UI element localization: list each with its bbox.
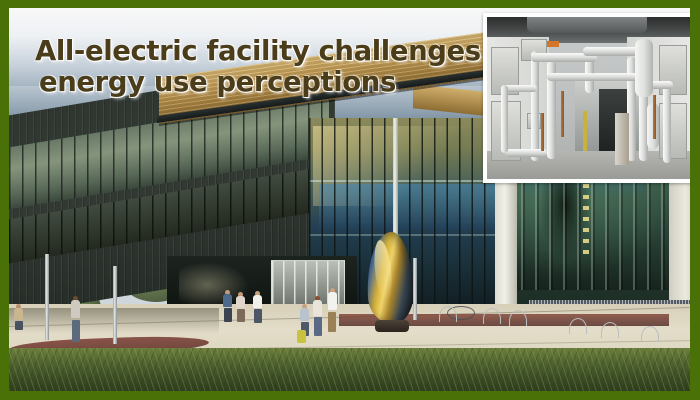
mech-ceiling-duct bbox=[527, 17, 647, 33]
bike-rack-1 bbox=[439, 306, 457, 322]
light-post-2 bbox=[113, 266, 117, 344]
mechanical-room-photo bbox=[487, 17, 690, 179]
inset-photo-frame bbox=[483, 13, 690, 183]
copper-pipe-3 bbox=[541, 113, 544, 151]
person-photographer bbox=[325, 288, 339, 332]
headline-line-2: energy use perceptions bbox=[35, 67, 505, 98]
person-torso bbox=[223, 294, 232, 307]
bike-rack-3 bbox=[509, 310, 527, 326]
person-torso bbox=[71, 300, 80, 318]
safety-marking bbox=[583, 111, 587, 151]
person-walking-left bbox=[69, 296, 82, 342]
planting-foliage-texture bbox=[9, 348, 690, 391]
bike-rack-2 bbox=[483, 308, 501, 324]
person-legs bbox=[224, 308, 232, 322]
buffer-tank bbox=[635, 39, 653, 97]
person-legs bbox=[314, 317, 322, 336]
person-torso bbox=[300, 308, 309, 321]
light-post-3 bbox=[413, 258, 417, 320]
person-torso bbox=[236, 296, 245, 308]
person-lobby-2 bbox=[235, 292, 246, 322]
banner-headline: All-electric facility challenges energy … bbox=[35, 36, 505, 98]
shopping-bag bbox=[297, 330, 306, 343]
valve-actuator-orange-1 bbox=[547, 41, 559, 47]
person-lobby-3 bbox=[252, 291, 263, 323]
pipe-vertical-7 bbox=[663, 81, 671, 163]
plaza-sculpture bbox=[361, 232, 419, 336]
person-torso bbox=[313, 300, 322, 316]
person-legs bbox=[237, 309, 245, 322]
bike-rack-4 bbox=[569, 318, 587, 334]
person-torso bbox=[328, 292, 337, 310]
person-seated-left bbox=[13, 304, 24, 330]
person-torso bbox=[14, 308, 23, 320]
pipe-vertical-6 bbox=[501, 85, 508, 153]
person-torso bbox=[253, 295, 262, 308]
pipe-horizontal-3 bbox=[547, 73, 595, 81]
headline-line-1: All-electric facility challenges bbox=[35, 36, 505, 67]
copper-pipe-2 bbox=[653, 95, 656, 139]
air-handler-unit bbox=[615, 113, 629, 165]
bike-rack-6 bbox=[641, 326, 659, 342]
person-lobby-1 bbox=[222, 290, 233, 322]
landscape-planting-bed bbox=[9, 348, 690, 391]
sculpture-base bbox=[375, 320, 409, 332]
pipe-vertical-1 bbox=[531, 51, 539, 161]
person-legs bbox=[15, 321, 23, 330]
person-adult-woman bbox=[311, 296, 324, 336]
banner-canvas: All-electric facility challenges energy … bbox=[9, 8, 690, 391]
copper-pipe-1 bbox=[561, 91, 564, 137]
light-post-1 bbox=[45, 254, 49, 340]
person-legs bbox=[328, 312, 336, 332]
person-legs bbox=[72, 320, 80, 342]
bike-rack-5 bbox=[601, 322, 619, 338]
article-banner: All-electric facility challenges energy … bbox=[0, 0, 700, 400]
person-legs bbox=[254, 309, 262, 323]
